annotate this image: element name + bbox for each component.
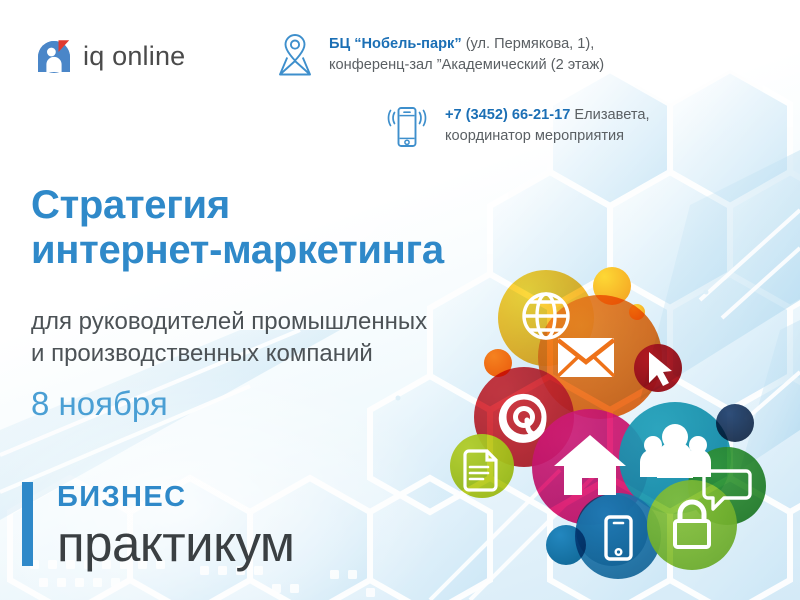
venue-address-text: БЦ “Нобель-парк” (ул. Пермякова, 1), кон… <box>329 33 604 75</box>
iq-online-logo-icon <box>34 36 74 76</box>
event-banner: iq online БЦ “Нобель-парк” (ул. Пермяков… <box>0 0 800 600</box>
circle-security <box>647 480 737 570</box>
contact-phone-text: +7 (3452) 66-21-17 Елизавета, координато… <box>445 104 650 146</box>
mobile-phone-icon <box>385 104 429 150</box>
contact-phone-block: +7 (3452) 66-21-17 Елизавета, координато… <box>385 104 650 150</box>
event-subheadline: для руководителей промышленных и произво… <box>31 306 427 369</box>
contact-role: координатор мероприятия <box>445 126 650 147</box>
brand-name: iq online <box>83 43 185 70</box>
venue-hall: конференц-зал ”Академический (2 этаж) <box>329 55 604 76</box>
headline-line-1: Стратегия <box>31 183 444 228</box>
venue-address-block: БЦ “Нобель-парк” (ул. Пермякова, 1), кон… <box>277 33 604 77</box>
map-pin-icon <box>277 33 313 77</box>
venue-street: (ул. Пермякова, 1), <box>462 36 595 52</box>
event-kicker: БИЗНЕС <box>57 481 186 514</box>
circle-mobile <box>575 493 661 579</box>
headline-line-2: интернет-маркетинга <box>31 228 444 273</box>
globe-icon <box>524 294 568 338</box>
event-title: практикум <box>57 514 294 573</box>
digital-marketing-circles-illustration <box>440 255 800 600</box>
venue-name: БЦ “Нобель-парк” <box>329 36 462 52</box>
event-headline: Стратегия интернет-маркетинга <box>31 183 444 273</box>
event-date: 8 ноября <box>31 385 168 423</box>
accent-bar <box>22 482 33 566</box>
brand-logo[interactable]: iq online <box>34 36 185 76</box>
envelope-icon <box>558 338 614 377</box>
phone-number[interactable]: +7 (3452) 66-21-17 <box>445 107 570 123</box>
subheadline-line-1: для руководителей промышленных <box>31 306 427 338</box>
contact-person: Елизавета, <box>570 107 649 123</box>
subheadline-line-2: и производственных компаний <box>31 338 427 370</box>
